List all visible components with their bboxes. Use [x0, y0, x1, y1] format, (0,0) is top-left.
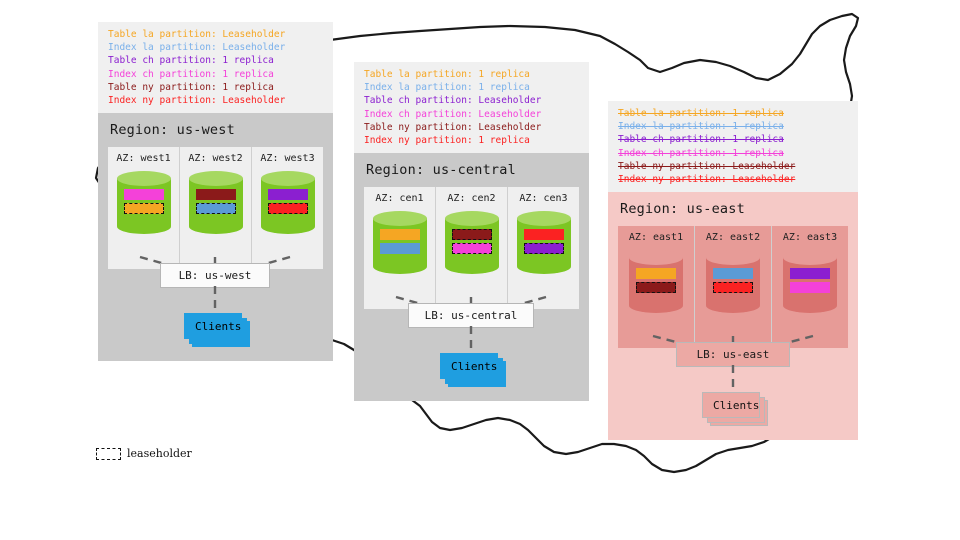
load-balancer-us-east[interactable]: LB: us-east [676, 342, 790, 367]
region-panel-us-west: Region: us-west AZ: west1 AZ: west2 [98, 113, 333, 361]
status-panel-us-central: Table la partition: 1 replica Index la p… [354, 62, 589, 154]
az-label: AZ: cen3 [519, 193, 567, 204]
status-line: Table ny partition: 1 replica [108, 81, 325, 94]
status-line: Table ch partition: Leaseholder [364, 94, 581, 107]
leaseholder-legend: leaseholder [96, 447, 192, 460]
node-cylinder-east3[interactable] [783, 250, 837, 312]
az-cell-east3[interactable]: AZ: east3 [772, 226, 848, 348]
status-line: Table ch partition: 1 replica [618, 133, 850, 146]
node-cylinder-cen1[interactable] [373, 211, 427, 273]
region-title: Region: us-west [98, 113, 333, 138]
replica-bar-leaseholder [524, 243, 564, 254]
region-panel-us-central: Region: us-central AZ: cen1 AZ: cen2 [354, 153, 589, 401]
az-cell-west1[interactable]: AZ: west1 [108, 147, 180, 269]
replica-bar-leaseholder [636, 282, 676, 293]
az-label: AZ: west3 [260, 153, 314, 164]
az-cell-cen2[interactable]: AZ: cen2 [436, 187, 508, 309]
az-label: AZ: west1 [116, 153, 170, 164]
az-cell-east1[interactable]: AZ: east1 [618, 226, 695, 348]
lb-label: LB: us-central [425, 309, 518, 322]
status-line: Table la partition: 1 replica [364, 68, 581, 81]
az-cell-west3[interactable]: AZ: west3 [252, 147, 323, 269]
status-line: Table la partition: Leaseholder [108, 28, 325, 41]
status-line: Table ny partition: Leaseholder [364, 121, 581, 134]
status-line: Index ny partition: Leaseholder [618, 173, 850, 186]
status-line: Index la partition: 1 replica [364, 81, 581, 94]
node-cylinder-cen3[interactable] [517, 211, 571, 273]
replica-bar-leaseholder [268, 203, 308, 214]
clients-label: Clients [440, 353, 498, 379]
region-panel-us-east: Region: us-east AZ: east1 AZ: east2 [608, 192, 858, 440]
load-balancer-us-west[interactable]: LB: us-west [160, 263, 270, 288]
status-line: Index la partition: 1 replica [618, 120, 850, 133]
node-cylinder-west2[interactable] [189, 171, 243, 233]
az-label: AZ: east1 [629, 232, 683, 243]
replica-bar [380, 243, 420, 254]
az-row-us-west: AZ: west1 AZ: west2 AZ: west3 [108, 147, 323, 269]
leaseholder-legend-label: leaseholder [127, 447, 192, 460]
status-lines-us-east: Table la partition: 1 replica Index la p… [608, 101, 858, 193]
az-label: AZ: east3 [783, 232, 837, 243]
lb-label: LB: us-east [697, 348, 770, 361]
az-cell-cen1[interactable]: AZ: cen1 [364, 187, 436, 309]
replica-bar-leaseholder [196, 203, 236, 214]
replica-bar-leaseholder [452, 243, 492, 254]
az-row-us-central: AZ: cen1 AZ: cen2 AZ: cen3 [364, 187, 579, 309]
status-line: Table ch partition: 1 replica [108, 54, 325, 67]
clients-stack-us-east[interactable]: Clients [702, 392, 772, 426]
replica-bar-leaseholder [124, 203, 164, 214]
az-label: AZ: east2 [706, 232, 760, 243]
status-line: Index ny partition: Leaseholder [108, 94, 325, 107]
az-label: AZ: cen1 [375, 193, 423, 204]
node-cylinder-east2[interactable] [706, 250, 760, 312]
replica-bar [636, 268, 676, 279]
az-label: AZ: cen2 [447, 193, 495, 204]
node-cylinder-east1[interactable] [629, 250, 683, 312]
region-title: Region: us-east [608, 192, 858, 217]
replica-bar [380, 229, 420, 240]
replica-bar [124, 189, 164, 200]
status-line: Index ch partition: 1 replica [108, 68, 325, 81]
load-balancer-us-central[interactable]: LB: us-central [408, 303, 534, 328]
az-cell-east2[interactable]: AZ: east2 [695, 226, 772, 348]
az-row-us-east: AZ: east1 AZ: east2 AZ: east3 [618, 226, 848, 348]
clients-label: Clients [702, 392, 760, 418]
status-line: Index la partition: Leaseholder [108, 41, 325, 54]
clients-label: Clients [184, 313, 242, 339]
status-panel-us-east: Table la partition: 1 replica Index la p… [608, 101, 858, 193]
status-line: Table ny partition: Leaseholder [618, 160, 850, 173]
clients-stack-us-central[interactable]: Clients [440, 353, 510, 387]
replica-bar [268, 189, 308, 200]
az-label: AZ: west2 [188, 153, 242, 164]
replica-bar [524, 229, 564, 240]
region-title: Region: us-central [354, 153, 589, 178]
lb-label: LB: us-west [179, 269, 252, 282]
replica-bar [790, 268, 830, 279]
leaseholder-swatch-icon [96, 448, 121, 460]
status-line: Table la partition: 1 replica [618, 107, 850, 120]
clients-stack-us-west[interactable]: Clients [184, 313, 254, 347]
replica-bar [713, 268, 753, 279]
status-panel-us-west: Table la partition: Leaseholder Index la… [98, 22, 333, 114]
node-cylinder-cen2[interactable] [445, 211, 499, 273]
replica-bar-leaseholder [452, 229, 492, 240]
replica-bar-leaseholder [713, 282, 753, 293]
node-cylinder-west1[interactable] [117, 171, 171, 233]
node-cylinder-west3[interactable] [261, 171, 315, 233]
replica-bar [790, 282, 830, 293]
az-cell-cen3[interactable]: AZ: cen3 [508, 187, 579, 309]
status-line: Index ch partition: 1 replica [618, 147, 850, 160]
replica-bar [196, 189, 236, 200]
status-line: Index ch partition: Leaseholder [364, 108, 581, 121]
az-cell-west2[interactable]: AZ: west2 [180, 147, 252, 269]
status-lines-us-central: Table la partition: 1 replica Index la p… [354, 62, 589, 154]
status-line: Index ny partition: 1 replica [364, 134, 581, 147]
status-lines-us-west: Table la partition: Leaseholder Index la… [98, 22, 333, 114]
